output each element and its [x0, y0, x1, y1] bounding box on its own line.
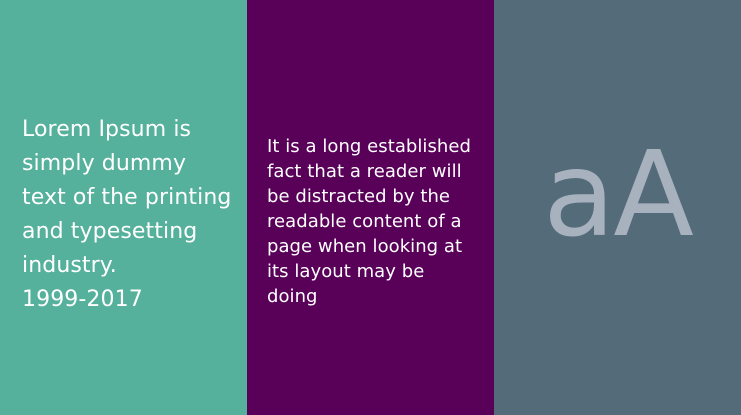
panel-intro: Lorem Ipsum is simply dummy text of the … — [0, 0, 247, 415]
body-paragraph: It is a long established fact that a rea… — [267, 134, 476, 309]
panel-body: It is a long established fact that a rea… — [247, 0, 494, 415]
panel-specimen: aA — [494, 0, 741, 415]
intro-years: 1999-2017 — [22, 283, 233, 317]
typography-layout: Lorem Ipsum is simply dummy text of the … — [0, 0, 741, 415]
font-specimen-glyphs: aA — [543, 135, 692, 253]
intro-heading: Lorem Ipsum is simply dummy text of the … — [22, 113, 233, 283]
